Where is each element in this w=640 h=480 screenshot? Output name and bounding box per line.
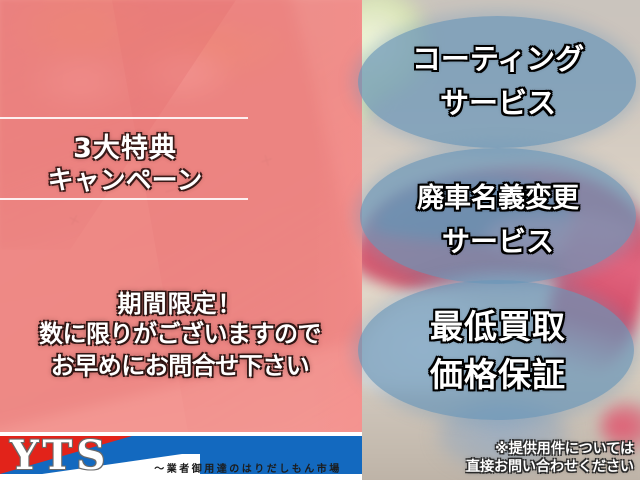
promo-line3: お早めにお問合せ下さい [0,346,360,381]
headline-rule-bottom [0,198,248,200]
service-3-line1: 最低買取 [358,300,638,348]
service-3-line2: 価格保証 [358,348,638,396]
service-1-line1: コーティング [358,36,638,78]
logo-bar: YTS ～業者御用達のはりだしもん市場 [0,432,362,480]
service-ellipse-2 [360,148,636,284]
disclaimer-line2: 直接お問い合わせください [466,456,634,476]
logo-bottom-strip [0,474,362,480]
service-2-line2: サービス [358,220,638,260]
promotional-banner: ÷ × − ＋ 3大特典 キャンペーン 期間限定！ 数に限りがございますので お… [0,0,640,480]
promo-line2: 数に限りがございますので [0,314,360,349]
service-1-line2: サービス [358,80,638,122]
logo-tagline: ～業者御用達のはりだしもん市場 [140,460,356,475]
logo-wordmark: YTS [10,436,109,476]
disclaimer-line1: ※提供用件については [495,438,634,458]
headline-line2: キャンペーン [0,160,250,197]
service-2-line1: 廃車名義変更 [358,176,638,215]
headline-rule-top [0,117,248,119]
